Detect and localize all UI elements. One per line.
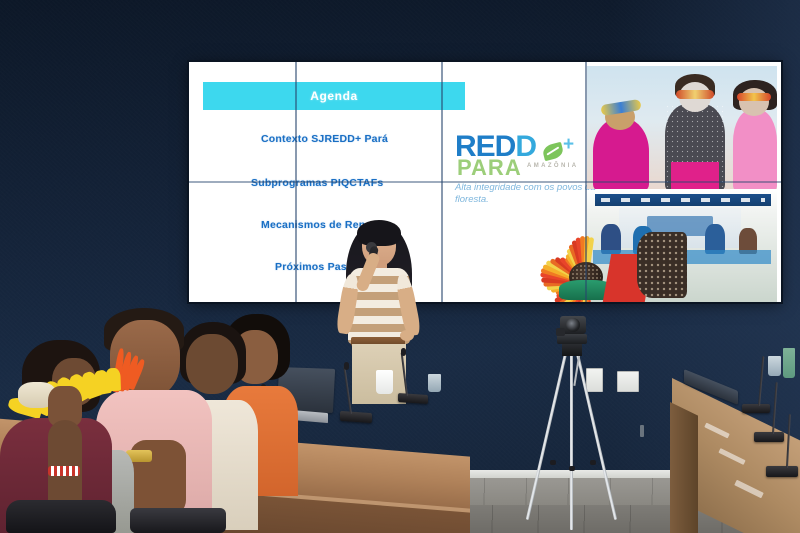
table-right-edge — [670, 402, 698, 533]
audience-row — [0, 300, 300, 533]
tripod-leg-joint — [569, 466, 575, 471]
redd-para-logo: REDD + PARA AMAZÔNIA Alta integridade co… — [455, 132, 605, 194]
wall-sensor-icon — [640, 425, 644, 437]
photo-person-right — [733, 110, 777, 189]
table-microphone-base[interactable] — [754, 432, 784, 442]
indigenous-women-photo — [587, 66, 777, 189]
conference-room-scene: Agenda Contexto SJREDD+ Pará Subprograma… — [0, 0, 800, 533]
camera-tripod[interactable] — [540, 308, 630, 528]
agenda-banner: Agenda — [203, 82, 465, 110]
agenda-banner-label: Agenda — [310, 89, 358, 103]
tripod-leg — [570, 354, 573, 530]
microphone-capsule-icon — [401, 348, 406, 356]
beaded-bracelet — [48, 466, 80, 476]
water-bottle[interactable] — [783, 348, 795, 378]
water-glass[interactable] — [768, 356, 781, 376]
camera-grip — [556, 328, 565, 336]
agenda-item-1: Contexto SJREDD+ Pará — [261, 133, 388, 145]
logo-tagline: Alta integridade com os povos da florest… — [455, 182, 605, 206]
logo-para-text: PARA — [457, 157, 522, 179]
photo-person-center-headband — [676, 90, 714, 99]
tripod-mount-plate — [562, 344, 582, 356]
microphone-capsule-icon — [344, 362, 349, 370]
presenter-hand — [400, 330, 414, 341]
attendee-headdress-arm — [48, 420, 82, 504]
photo-person-right-headband — [737, 93, 771, 101]
tripod-leg-joint — [590, 460, 596, 465]
water-glass[interactable] — [428, 374, 441, 392]
feather-headdress-photo — [487, 204, 687, 302]
table-microphone-base[interactable] — [742, 404, 770, 413]
table-microphone-base[interactable] — [340, 411, 372, 423]
patterned-cloth — [637, 232, 687, 298]
foreground-mic-base[interactable] — [130, 508, 226, 533]
tripod-leg — [576, 354, 617, 520]
camera-lens-icon — [566, 318, 580, 332]
presentation-slide: Agenda Contexto SJREDD+ Pará Subprograma… — [189, 62, 781, 302]
leaf-icon — [541, 142, 564, 161]
foreground-headset[interactable] — [6, 500, 116, 533]
paper-cup[interactable] — [376, 370, 393, 394]
agenda-item-2: Subprogramas PIQCTAFs — [251, 177, 383, 189]
tripod-leg-joint — [550, 460, 556, 465]
panel-seam-horizontal — [189, 181, 781, 183]
video-wall[interactable]: Agenda Contexto SJREDD+ Pará Subprograma… — [189, 62, 781, 302]
table-microphone-base[interactable] — [766, 466, 798, 477]
logo-subline-1: AMAZÔNIA — [527, 162, 579, 171]
photo-person-center-skirt — [671, 162, 719, 189]
headdress-feather — [105, 368, 121, 391]
logo-plus-text: + — [563, 134, 574, 156]
presenter-hair-front — [357, 220, 401, 246]
